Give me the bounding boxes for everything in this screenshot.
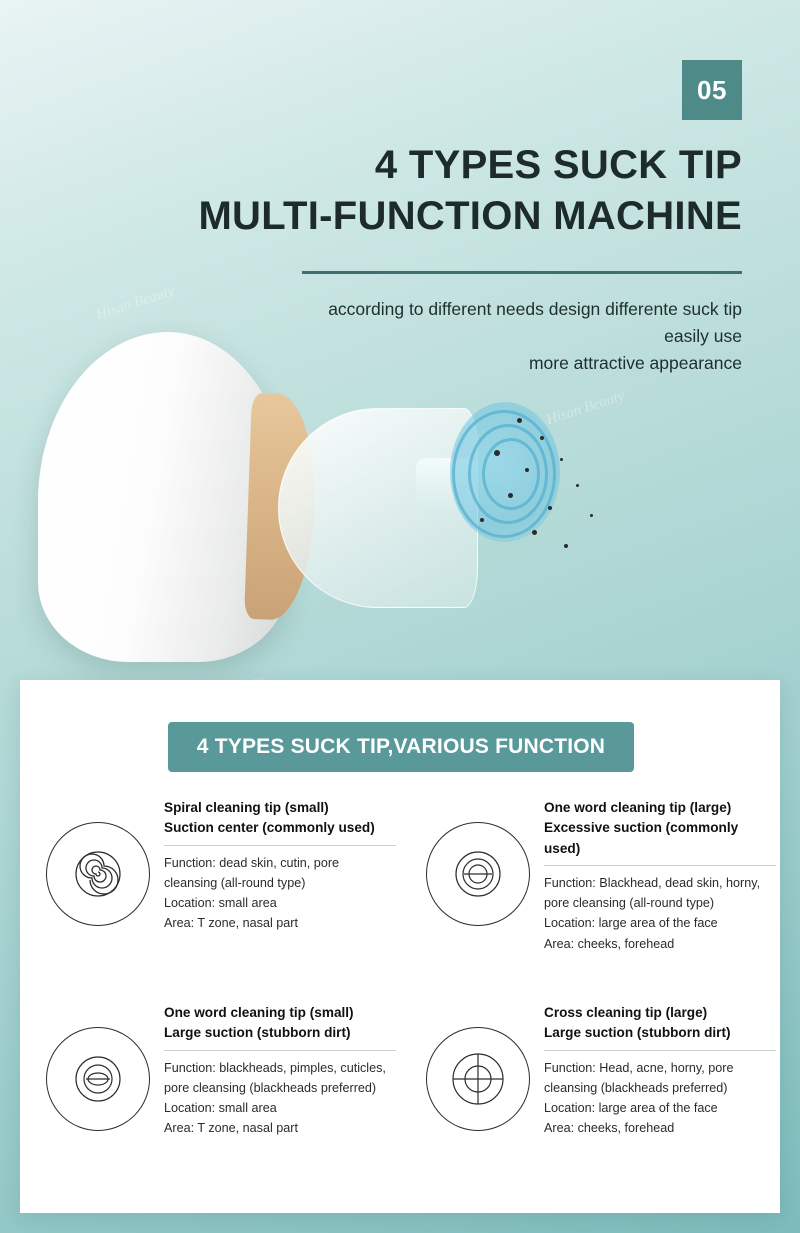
one-word-large-tip-icon [426,822,530,926]
tip-divider [164,1050,396,1051]
tip-body-line-2: cleansing (all-round type) [164,873,396,893]
tip-body-line-1: Function: dead skin, cutin, pore [164,853,396,873]
tip-body-line-1: Function: Head, acne, horny, pore [544,1058,776,1078]
tip-head-line-2: Suction center (commonly used) [164,818,396,838]
suction-ring [482,438,540,510]
tip-item: One word cleaning tip (large) Excessive … [400,790,780,995]
tip-divider [164,845,396,846]
title-line-1: 4 TYPES SUCK TIP [42,140,742,191]
debris-speck [525,468,529,472]
product-page: Hisan Beauty Hisan Beauty Hisan Beauty H… [0,0,800,1233]
debris-speck [548,506,552,510]
tip-body-line-1: Function: Blackhead, dead skin, horny, [544,873,776,893]
tip-text: One word cleaning tip (small) Large suct… [150,1001,396,1200]
tip-body-line-3: Location: large area of the face [544,913,776,933]
tip-head-line-2: Excessive suction (commonly used) [544,818,776,859]
tip-text: Spiral cleaning tip (small) Suction cent… [150,796,396,995]
debris-speck [540,436,544,440]
debris-speck [560,458,563,461]
tip-head-line-1: One word cleaning tip (large) [544,798,776,818]
tip-head-line-2: Large suction (stubborn dirt) [164,1023,396,1043]
debris-speck [590,514,593,517]
tip-body-line-4: Area: T zone, nasal part [164,913,396,933]
tip-body-line-4: Area: cheeks, forehead [544,934,776,954]
cross-tip-icon [426,1027,530,1131]
tip-body-line-2: pore cleansing (all-round type) [544,893,776,913]
title-divider [302,271,742,274]
debris-speck [576,484,579,487]
tip-body-line-2: cleansing (blackheads preferred) [544,1078,776,1098]
tip-body-line-3: Location: small area [164,893,396,913]
tip-divider [544,1050,776,1051]
tip-body-line-4: Area: T zone, nasal part [164,1118,396,1138]
page-title: 4 TYPES SUCK TIP MULTI-FUNCTION MACHINE [42,140,742,242]
tip-item: Cross cleaning tip (large) Large suction… [400,995,780,1200]
tip-body-line-3: Location: large area of the face [544,1098,776,1118]
product-illustration [20,318,640,698]
tip-head-line-1: One word cleaning tip (small) [164,1003,396,1023]
tip-body-line-3: Location: small area [164,1098,396,1118]
tip-body-line-4: Area: cheeks, forehead [544,1118,776,1138]
tips-grid: Spiral cleaning tip (small) Suction cent… [20,790,780,1200]
debris-speck [517,418,522,423]
tip-head-line-2: Large suction (stubborn dirt) [544,1023,776,1043]
tip-item: One word cleaning tip (small) Large suct… [20,995,400,1200]
title-line-2: MULTI-FUNCTION MACHINE [42,191,742,242]
debris-speck [564,544,568,548]
tip-body-line-2: pore cleansing (blackheads preferred) [164,1078,396,1098]
debris-speck [494,450,500,456]
section-number-badge: 05 [682,60,742,120]
debris-speck [532,530,537,535]
tip-item: Spiral cleaning tip (small) Suction cent… [20,790,400,995]
one-word-small-tip-icon [46,1027,150,1131]
debris-speck [508,493,513,498]
debris-speck [480,518,484,522]
tip-text: One word cleaning tip (large) Excessive … [530,796,776,995]
tip-head-line-1: Spiral cleaning tip (small) [164,798,396,818]
tip-head-line-1: Cross cleaning tip (large) [544,1003,776,1023]
tips-card-banner: 4 TYPES SUCK TIP,VARIOUS FUNCTION [168,722,634,772]
tip-divider [544,865,776,866]
tip-text: Cross cleaning tip (large) Large suction… [530,1001,776,1200]
spiral-tip-icon [46,822,150,926]
tips-card: 4 TYPES SUCK TIP,VARIOUS FUNCTION Spiral… [20,680,780,1213]
tip-body-line-1: Function: blackheads, pimples, cuticles, [164,1058,396,1078]
